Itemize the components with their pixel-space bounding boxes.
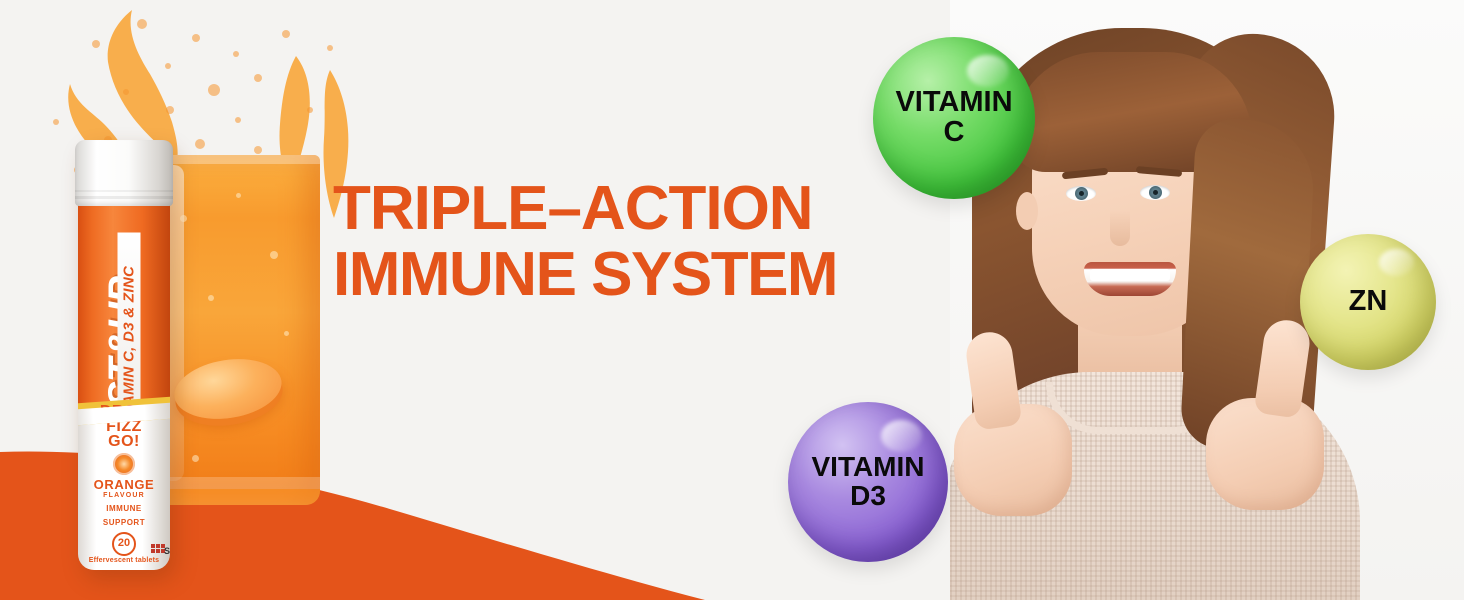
sphere-zinc: ZN bbox=[1300, 234, 1436, 370]
flavour-label: FLAVOUR bbox=[78, 492, 170, 499]
sphere-highlight bbox=[967, 55, 1009, 87]
cap-ring bbox=[75, 190, 173, 192]
tube-info-panel: DROP FIZZ GO! ORANGE FLAVOUR IMMUNE SUPP… bbox=[78, 410, 170, 570]
headline-line-1: TRIPLE–ACTION bbox=[333, 176, 953, 242]
tube-cap bbox=[75, 140, 173, 206]
sphere-label-line-1: VITAMIN bbox=[811, 453, 924, 482]
benefit-line-2: SUPPORT bbox=[78, 518, 170, 527]
glass-base-line bbox=[150, 477, 320, 489]
tagline-line-3: GO! bbox=[78, 434, 170, 449]
sphere-highlight bbox=[1379, 249, 1414, 276]
cap-ring bbox=[75, 196, 173, 199]
ear bbox=[1016, 192, 1038, 230]
promo-banner: FAST&UP VITAMIN C, D3 & ZINC DROP FIZZ G… bbox=[0, 0, 1464, 600]
eye-left bbox=[1066, 186, 1096, 201]
juice-glass bbox=[150, 155, 320, 505]
product-scene: FAST&UP VITAMIN C, D3 & ZINC DROP FIZZ G… bbox=[0, 0, 360, 600]
bubble bbox=[180, 215, 187, 222]
flavour-name: ORANGE bbox=[78, 477, 170, 492]
thumbs-up-right bbox=[1206, 398, 1324, 510]
effervescent-tablet bbox=[170, 352, 286, 426]
tagline-line-1: DROP bbox=[78, 404, 170, 419]
headline-line-2: IMMUNE SYSTEM bbox=[333, 242, 953, 308]
sphere-vitamin-c: VITAMIN C bbox=[873, 37, 1035, 199]
tablet-count-badge: 20 bbox=[112, 532, 136, 556]
bubble bbox=[284, 331, 289, 336]
sphere-label-line-1: VITAMIN bbox=[895, 88, 1012, 118]
orange-slice-icon bbox=[113, 453, 135, 475]
sphere-vitamin-d3: VITAMIN D3 bbox=[788, 402, 948, 562]
tagline-line-2: FIZZ bbox=[78, 419, 170, 434]
glass-base bbox=[150, 489, 320, 505]
product-tube: FAST&UP VITAMIN C, D3 & ZINC DROP FIZZ G… bbox=[78, 140, 170, 570]
sphere-highlight bbox=[881, 420, 923, 452]
benefit-line-1: IMMUNE bbox=[78, 504, 170, 513]
bubble bbox=[236, 193, 241, 198]
page-title: TRIPLE–ACTION IMMUNE SYSTEM bbox=[333, 176, 953, 308]
eye-right bbox=[1140, 185, 1170, 200]
certification-mark: S bbox=[164, 546, 170, 556]
sphere-label-line-1: ZN bbox=[1349, 287, 1388, 317]
bubble bbox=[270, 251, 278, 259]
glass-rim bbox=[150, 155, 320, 164]
smiling-mouth bbox=[1084, 262, 1176, 296]
sphere-label-line-2: D3 bbox=[850, 482, 886, 511]
thumbs-up-left bbox=[954, 404, 1072, 516]
tablet-count-label: Effervescent tablets bbox=[78, 557, 170, 564]
bubble bbox=[208, 295, 214, 301]
nose bbox=[1110, 210, 1130, 246]
bubble bbox=[192, 455, 199, 462]
sphere-label-line-2: C bbox=[944, 118, 965, 148]
tube-info-text: DROP FIZZ GO! ORANGE FLAVOUR IMMUNE SUPP… bbox=[78, 404, 170, 564]
